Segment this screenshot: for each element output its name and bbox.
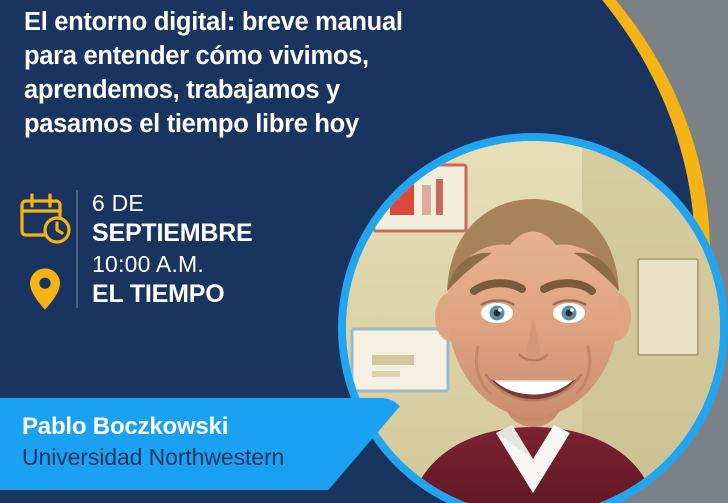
title-line-2: para entender cómo vivimos, [24, 39, 464, 73]
event-text-column: 6 DE SEPTIEMBRE 10:00 A.M. EL TIEMPO [92, 188, 253, 310]
event-poster: El entorno digital: breve manual para en… [0, 0, 728, 503]
speaker-organization: Universidad Northwestern [22, 442, 284, 472]
page-title: El entorno digital: breve manual para en… [24, 5, 464, 141]
speaker-photo-ring [338, 133, 728, 503]
event-venue: EL TIEMPO [92, 279, 253, 310]
title-line-4: pasamos el tiempo libre hoy [24, 107, 464, 141]
title-line-1: El entorno digital: breve manual [24, 5, 464, 39]
speaker-banner-text: Pablo Boczkowski Universidad Northwester… [22, 412, 284, 472]
speaker-name: Pablo Boczkowski [22, 412, 284, 442]
calendar-clock-icon [18, 192, 72, 249]
event-time: 10:00 A.M. [92, 249, 253, 279]
info-divider [76, 190, 78, 308]
event-month: SEPTIEMBRE [92, 218, 253, 249]
title-line-3: aprendemos, trabajamos y [24, 73, 464, 107]
event-details: 6 DE SEPTIEMBRE 10:00 A.M. EL TIEMPO [14, 188, 253, 316]
event-day: 6 DE [92, 188, 253, 218]
speaker-photo [346, 141, 720, 503]
event-icon-column [14, 188, 76, 316]
location-pin-icon [28, 267, 62, 316]
